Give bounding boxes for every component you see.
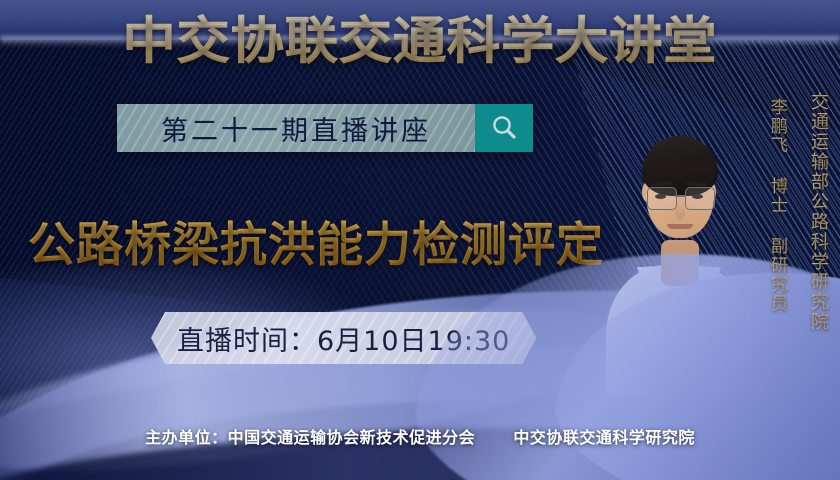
neck <box>661 240 699 286</box>
topic-title: 公路桥梁抗洪能力检测评定 <box>28 206 604 275</box>
glasses-bridge <box>675 195 685 197</box>
search-icon[interactable] <box>475 104 533 152</box>
episode-banner-text-area: 第二十一期直播讲座 <box>117 104 475 152</box>
speaker-name-title: 李鹏飞 博士 副研究员 <box>765 98 790 313</box>
glasses-lens-left <box>647 187 677 210</box>
broadcast-time-label: 直播时间：6月10日19:30 <box>177 319 510 358</box>
nose <box>675 204 685 220</box>
page-title: 中交协联交通科学大讲堂 <box>0 14 840 69</box>
mouth <box>667 224 693 229</box>
live-lecture-poster: 中交协联交通科学大讲堂 第二十一期直播讲座 公路桥梁抗洪能力检测评定 直播时间：… <box>0 0 840 480</box>
episode-label: 第二十一期直播讲座 <box>161 109 431 148</box>
footer-organizers: 主办单位：中国交通运输协会新技术促进分会 中交协联交通科学研究院 <box>0 424 840 448</box>
broadcast-time-badge: 直播时间：6月10日19:30 <box>151 312 536 364</box>
footer-organizer-secondary: 中交协联交通科学研究院 <box>513 428 695 447</box>
speaker-organization: 交通运输部公路科学研究院 <box>805 92 831 332</box>
glasses-lens-right <box>685 187 715 210</box>
footer-organizer-primary: 主办单位：中国交通运输协会新技术促进分会 <box>145 428 475 447</box>
episode-banner: 第二十一期直播讲座 <box>117 104 533 152</box>
